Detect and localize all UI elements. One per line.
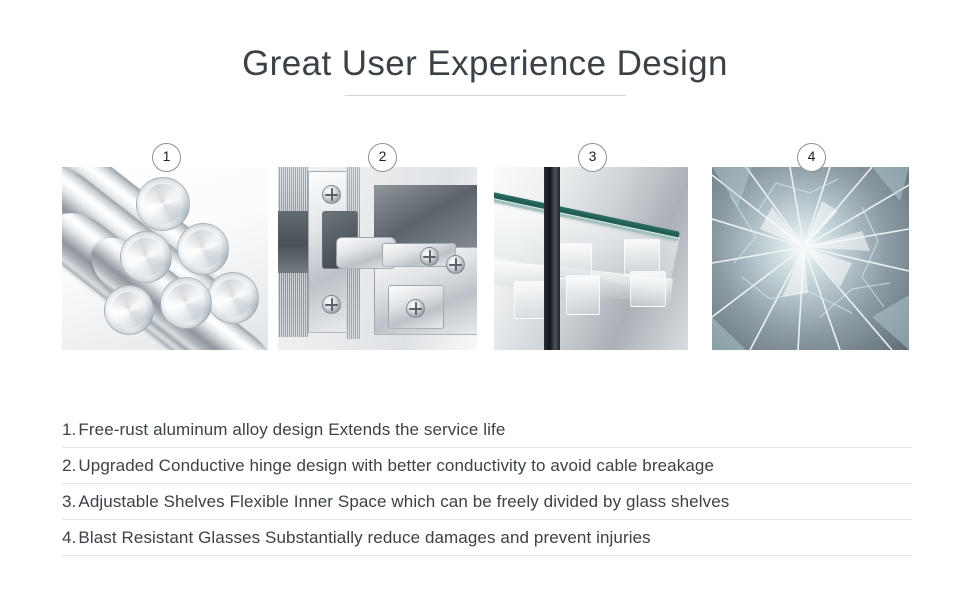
glass-shelf-photo: [494, 167, 688, 350]
feature-image-4: [712, 167, 909, 350]
feature-index: 1.: [62, 420, 76, 440]
feature-list-item: 1. Free-rust aluminum alloy design Exten…: [62, 412, 912, 448]
aluminum-bar-end: [120, 231, 172, 283]
feature-list: 1. Free-rust aluminum alloy design Exten…: [62, 412, 912, 556]
infographic-page: Great User Experience Design: [0, 0, 970, 600]
hinge-screw: [322, 295, 341, 314]
shelf-support-clip: [566, 275, 600, 315]
glass-crack-pattern: [712, 167, 909, 350]
hinge-screw: [406, 299, 425, 318]
dark-panel-band: [278, 211, 308, 273]
cabinet-hinge-photo: [278, 167, 477, 350]
feature-text: Upgraded Conductive hinge design with be…: [78, 456, 714, 476]
feature-image-strip: [0, 167, 970, 350]
feature-list-item: 4. Blast Resistant Glasses Substantially…: [62, 520, 912, 556]
aluminum-bars-photo: [62, 167, 268, 350]
hinge-screw: [420, 247, 439, 266]
title-underline-rule: [345, 95, 626, 96]
shelf-support-clip: [630, 271, 666, 307]
shelf-upright-post: [544, 167, 560, 350]
shelf-support-clip: [514, 281, 546, 319]
feature-text: Free-rust aluminum alloy design Extends …: [78, 420, 505, 440]
feature-index: 3.: [62, 492, 76, 512]
feature-index: 2.: [62, 456, 76, 476]
hinge-mounting-plate: [382, 243, 456, 267]
hinge-screw: [446, 255, 465, 274]
aluminum-bar-end: [136, 177, 190, 231]
shelf-support-clip: [624, 239, 660, 275]
feature-text: Blast Resistant Glasses Substantially re…: [78, 528, 650, 548]
aluminum-bar-end: [160, 277, 212, 329]
image-badge-1: 1: [152, 143, 181, 172]
image-badge-4: 4: [797, 143, 826, 172]
feature-list-item: 2. Upgraded Conductive hinge design with…: [62, 448, 912, 484]
page-title: Great User Experience Design: [0, 44, 970, 84]
image-badge-2: 2: [368, 143, 397, 172]
feature-list-item: 3. Adjustable Shelves Flexible Inner Spa…: [62, 484, 912, 520]
feature-index: 4.: [62, 528, 76, 548]
image-badge-3: 3: [578, 143, 607, 172]
feature-image-3: [494, 167, 688, 350]
hinge-screw: [322, 185, 341, 204]
shelf-support-clip: [556, 243, 592, 279]
aluminum-bar-end: [207, 272, 259, 324]
aluminum-bar-end: [104, 285, 154, 335]
feature-image-2: [278, 167, 477, 350]
shattered-glass-photo: [712, 167, 909, 350]
feature-text: Adjustable Shelves Flexible Inner Space …: [78, 492, 729, 512]
aluminum-bar-end: [177, 223, 229, 275]
feature-image-1: [62, 167, 268, 350]
